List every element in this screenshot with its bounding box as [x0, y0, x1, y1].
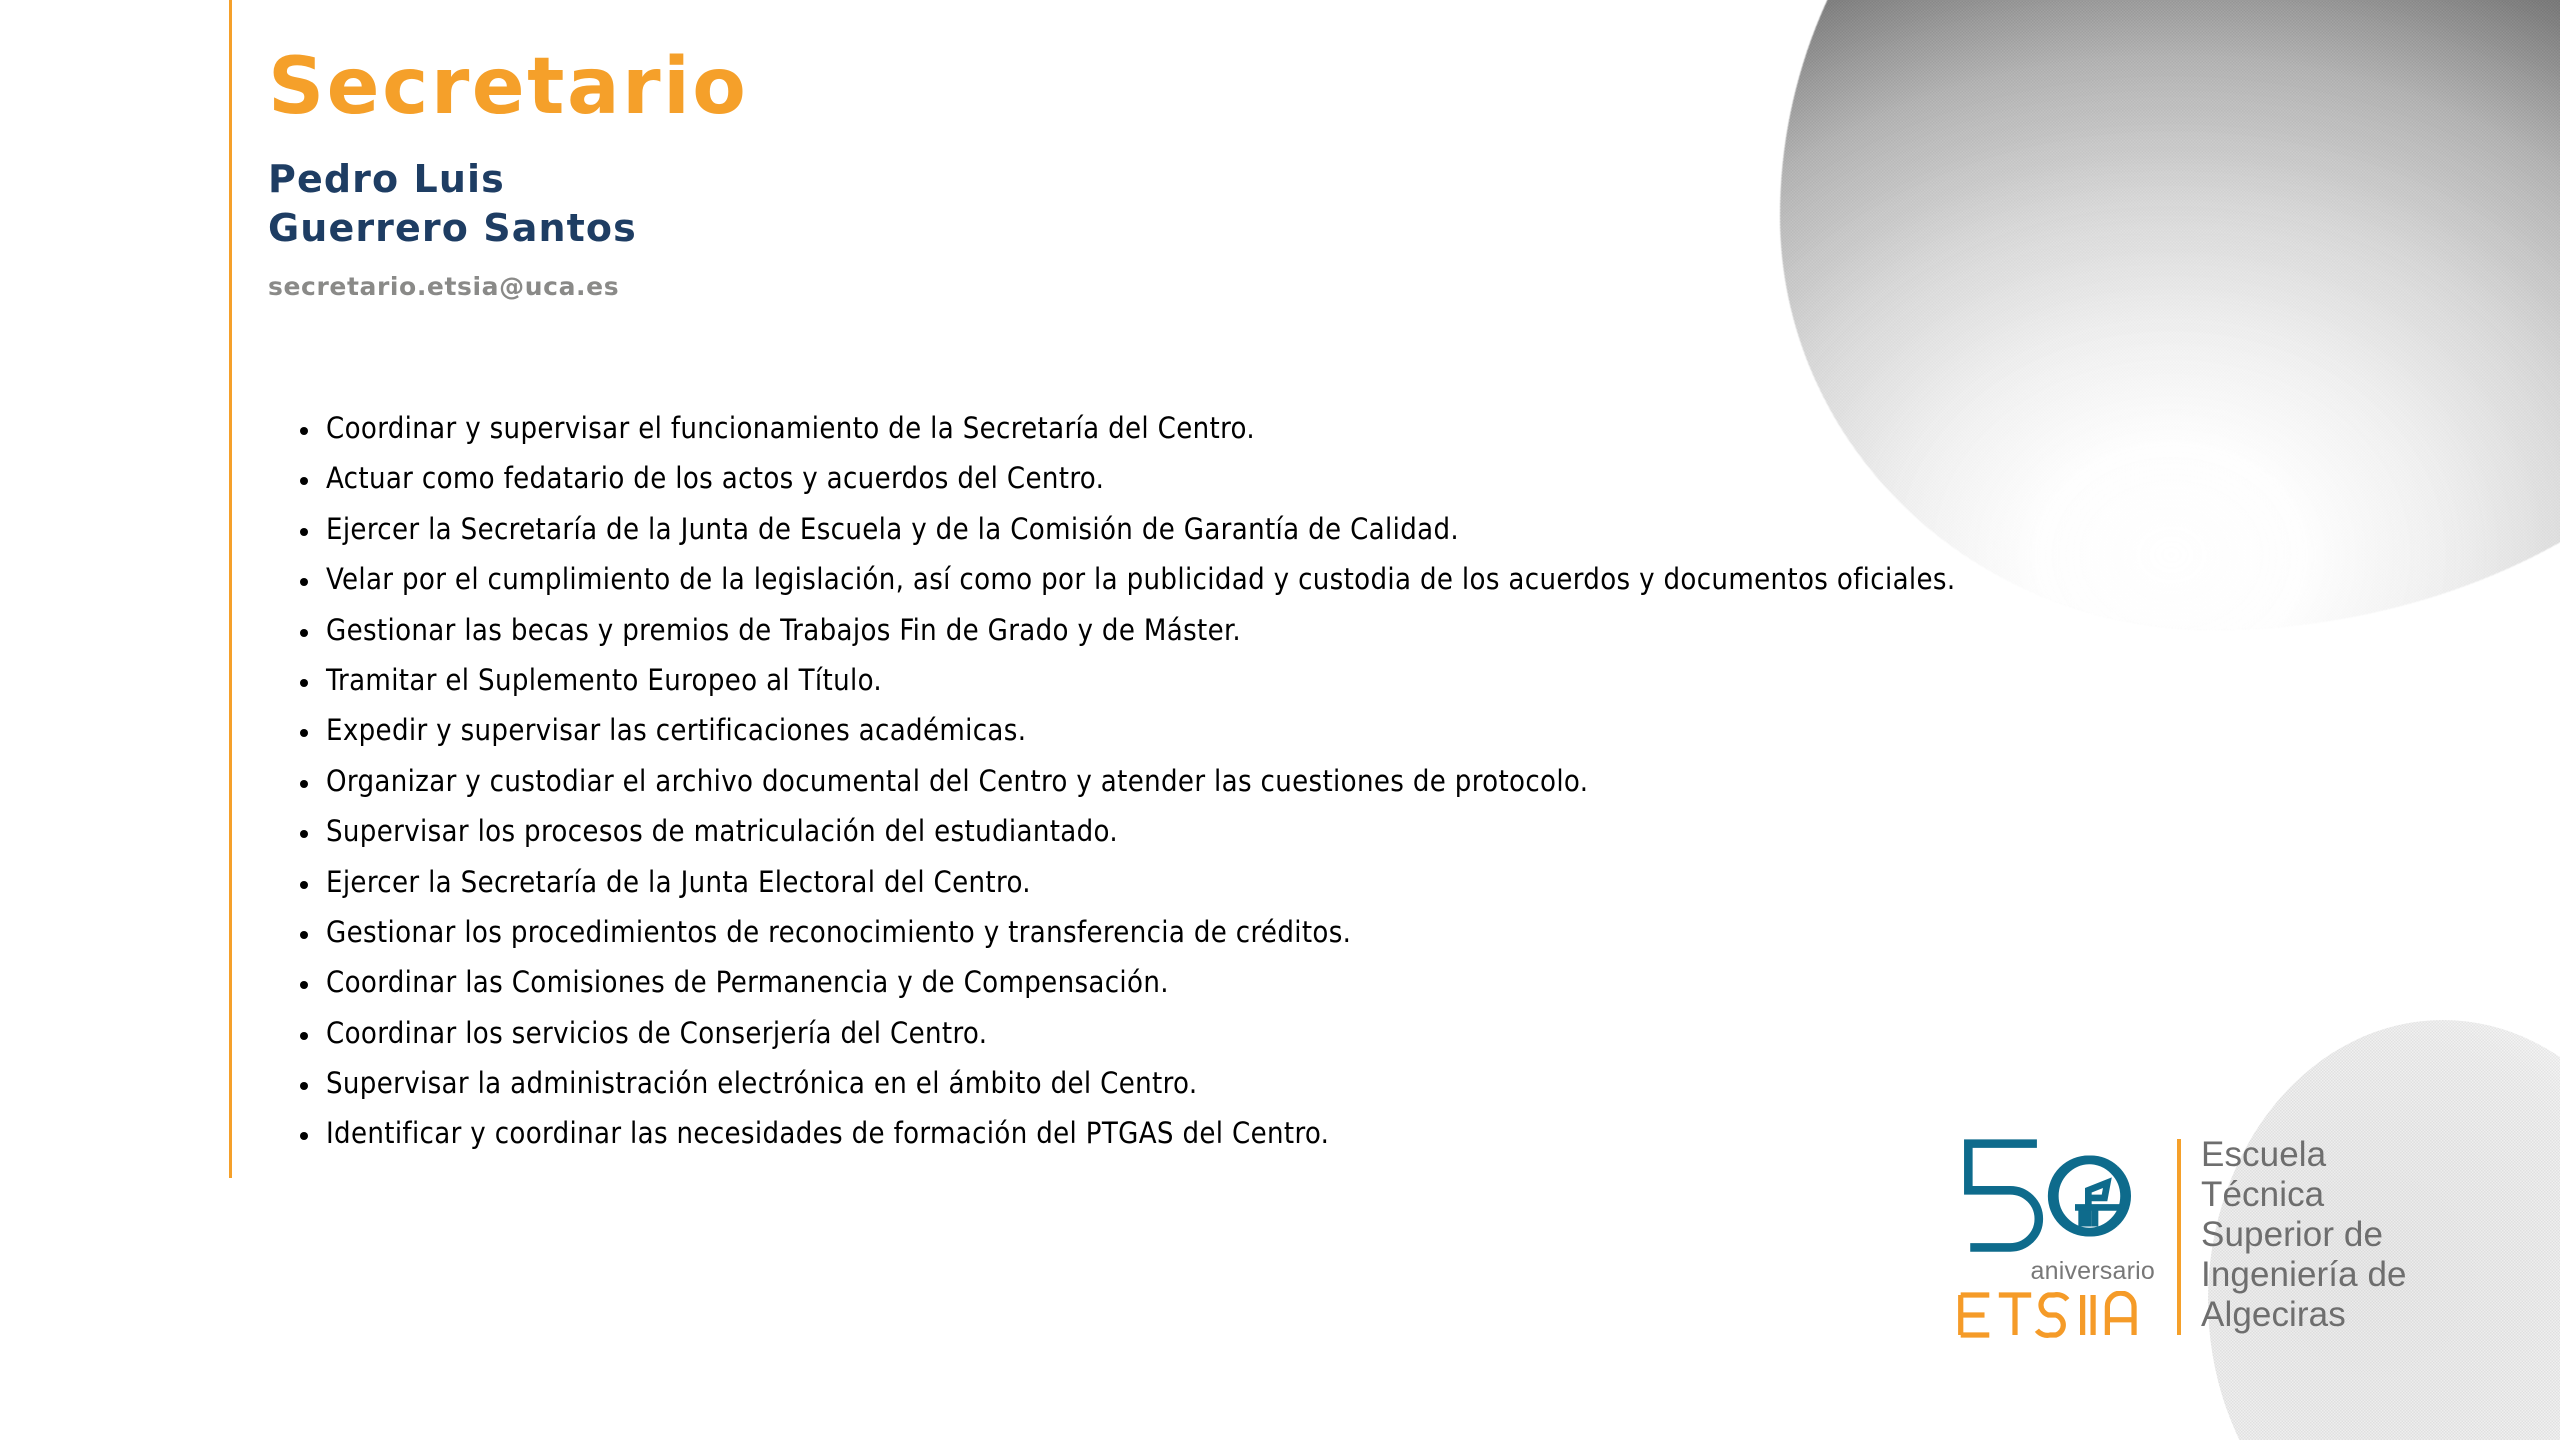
list-item: Supervisar la administración electrónica…: [292, 1069, 2422, 1098]
person-name-line-2: Guerrero Santos: [268, 204, 1828, 253]
logo-anniversary-group: aniversario: [1955, 1135, 2155, 1339]
list-item: Coordinar y supervisar el funcionamiento…: [292, 414, 2422, 443]
list-item: Coordinar los servicios de Conserjería d…: [292, 1019, 2422, 1048]
list-item: Velar por el cumplimiento de la legislac…: [292, 565, 2422, 594]
etsia-logo: aniversario Escuela T: [1955, 1135, 2407, 1339]
list-item: Tramitar el Suplemento Europeo al Título…: [292, 666, 2422, 695]
page-title: Secretario: [268, 48, 1828, 128]
person-email: secretario.etsia@uca.es: [268, 272, 1828, 301]
list-item: Gestionar los procedimientos de reconoci…: [292, 918, 2422, 947]
left-accent-rule: [229, 0, 232, 1178]
header-block: Secretario Pedro Luis Guerrero Santos se…: [268, 48, 1828, 301]
duties-list: Coordinar y supervisar el funcionamiento…: [292, 414, 2422, 1170]
list-item: Ejercer la Secretaría de la Junta de Esc…: [292, 515, 2422, 544]
list-item: Ejercer la Secretaría de la Junta Electo…: [292, 868, 2422, 897]
person-name: Pedro Luis Guerrero Santos: [268, 155, 1828, 254]
slide-canvas: Secretario Pedro Luis Guerrero Santos se…: [0, 0, 2560, 1440]
list-item: Actuar como fedatario de los actos y acu…: [292, 464, 2422, 493]
list-item: Supervisar los procesos de matriculación…: [292, 817, 2422, 846]
list-item: Organizar y custodiar el archivo documen…: [292, 767, 2422, 796]
list-item: Coordinar las Comisiones de Permanencia …: [292, 968, 2422, 997]
logo-school-line-4: Ingeniería de: [2201, 1255, 2407, 1295]
etsia-wordmark-icon: [1955, 1291, 2155, 1339]
logo-school-name: Escuela Técnica Superior de Ingeniería d…: [2201, 1135, 2407, 1334]
fifty-anniversary-icon: [1955, 1135, 2155, 1257]
logo-school-line-3: Superior de: [2201, 1215, 2407, 1255]
logo-anniversary-word: aniversario: [1955, 1259, 2155, 1284]
person-name-line-1: Pedro Luis: [268, 155, 1828, 204]
logo-divider: [2177, 1139, 2181, 1335]
logo-school-line-2: Técnica: [2201, 1175, 2407, 1215]
logo-school-line-5: Algeciras: [2201, 1295, 2407, 1335]
logo-school-line-1: Escuela: [2201, 1135, 2407, 1175]
list-item: Gestionar las becas y premios de Trabajo…: [292, 616, 2422, 645]
list-item: Expedir y supervisar las certificaciones…: [292, 716, 2422, 745]
